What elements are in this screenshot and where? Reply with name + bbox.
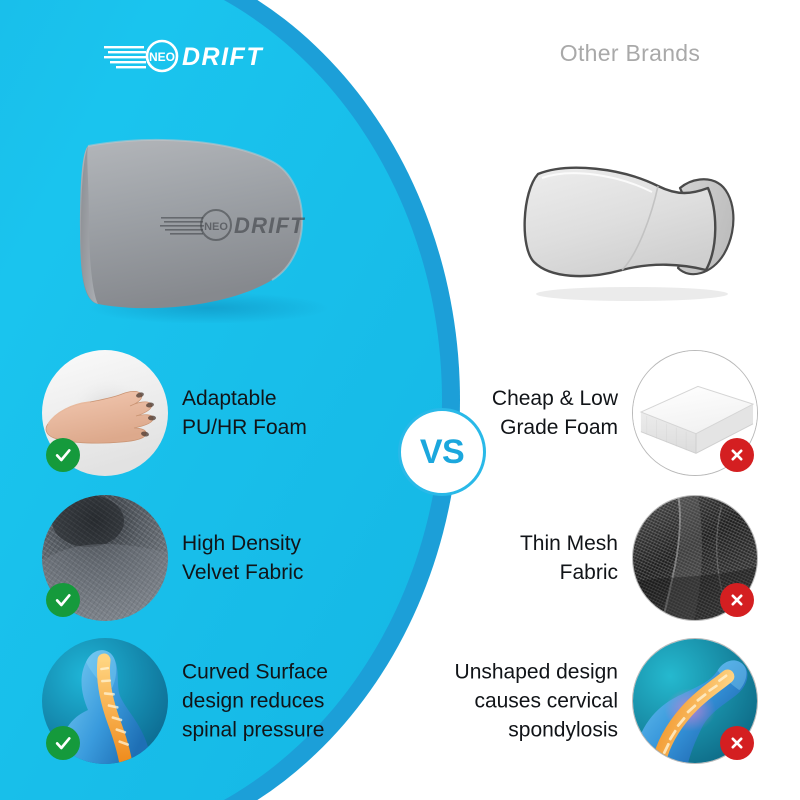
feature-label: Curved Surface design reduces spinal pre…	[182, 658, 402, 745]
feature-line: Unshaped design	[420, 658, 618, 687]
cheap-foam-thumbnail	[632, 350, 758, 476]
feature-line: Curved Surface	[182, 658, 402, 687]
infographic-canvas: NEO DRIFT Other Brands	[0, 0, 800, 800]
feature-label: Thin Mesh Fabric	[420, 529, 618, 587]
thin-mesh-fabric-thumbnail	[632, 495, 758, 621]
check-badge	[46, 583, 80, 617]
logo-drift-text: DRIFT	[182, 43, 264, 71]
feature-line: design reduces	[182, 687, 402, 716]
cross-badge	[720, 726, 754, 760]
feature-label: High Density Velvet Fabric	[182, 529, 402, 587]
feature-line: causes cervical	[420, 687, 618, 716]
svg-text:DRIFT: DRIFT	[234, 213, 305, 238]
check-badge	[46, 726, 80, 760]
check-badge	[46, 438, 80, 472]
feature-line: PU/HR Foam	[182, 413, 402, 442]
velvet-fabric-thumbnail	[42, 495, 168, 621]
feature-line: Velvet Fabric	[182, 558, 402, 587]
logo-neo-text: NEO	[149, 50, 175, 64]
feature-line: Fabric	[420, 558, 618, 587]
neodrift-lumbar-pillow-image: NEO DRIFT	[58, 128, 348, 323]
feature-line: Thin Mesh	[420, 529, 618, 558]
cross-badge	[720, 438, 754, 472]
adaptable-foam-thumbnail	[42, 350, 168, 476]
feature-line: Adaptable	[182, 384, 402, 413]
curved-spine-support-thumbnail	[42, 638, 168, 764]
feature-row-velvet-fabric: High Density Velvet Fabric	[42, 495, 402, 621]
feature-line: High Density	[182, 529, 402, 558]
feature-label: Adaptable PU/HR Foam	[182, 384, 402, 442]
feature-row-spondylosis: Unshaped design causes cervical spondylo…	[420, 638, 758, 764]
feature-line: spinal pressure	[182, 716, 402, 745]
feature-row-thin-mesh: Thin Mesh Fabric	[420, 495, 758, 621]
cross-badge	[720, 583, 754, 617]
neodrift-logo: NEO DRIFT	[104, 39, 274, 73]
feature-row-adaptable-foam: Adaptable PU/HR Foam	[42, 350, 402, 476]
svg-text:NEO: NEO	[204, 221, 228, 233]
other-brands-title: Other Brands	[500, 40, 760, 67]
cervical-spondylosis-thumbnail	[632, 638, 758, 764]
vs-label: VS	[420, 435, 464, 469]
feature-label: Unshaped design causes cervical spondylo…	[420, 658, 618, 745]
vs-badge: VS	[398, 408, 486, 496]
feature-line: spondylosis	[420, 716, 618, 745]
other-brand-pillow-image	[512, 148, 762, 308]
feature-row-curved-surface: Curved Surface design reduces spinal pre…	[42, 638, 402, 764]
